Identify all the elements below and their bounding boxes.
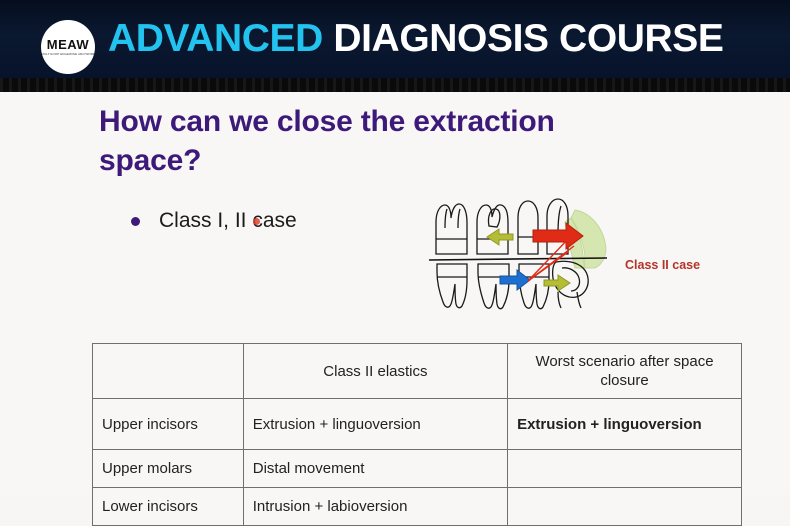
meaw-logo: MEAW MULTILOOP EDGEWISE ARCHWIRE xyxy=(41,20,95,74)
lower-left-blue-arrow xyxy=(500,270,530,290)
table-row: Lower incisors Intrusion + labioversion xyxy=(93,488,742,526)
row-elastics-lower-incisors: Intrusion + labioversion xyxy=(243,488,507,526)
header-cell-elastics: Class II elastics xyxy=(243,344,507,399)
bullet-item-label: Class I, II case xyxy=(159,209,297,233)
table-row: Upper molars Distal movement xyxy=(93,450,742,488)
logo-subtitle: MULTILOOP EDGEWISE ARCHWIRE xyxy=(41,52,95,56)
logo-word: MEAW xyxy=(47,39,89,51)
row-elastics-upper-incisors: Extrusion + linguoversion xyxy=(243,399,507,450)
row-elastics-upper-molars: Distal movement xyxy=(243,450,507,488)
dental-diagram-svg xyxy=(425,192,625,312)
course-title: ADVANCED DIAGNOSIS COURSE xyxy=(108,16,724,62)
upper-teeth-outlines xyxy=(436,199,568,254)
bullet-dot-icon xyxy=(131,217,140,226)
header-film-strip xyxy=(0,78,790,92)
row-worst-upper-incisors: Extrusion + linguoversion xyxy=(508,399,742,450)
table-header-row: Class II elastics Worst scenario after s… xyxy=(93,344,742,399)
cursor-marker-icon xyxy=(253,218,260,225)
course-title-rest: DIAGNOSIS COURSE xyxy=(333,17,723,60)
dental-diagram xyxy=(425,192,625,312)
comparison-table: Class II elastics Worst scenario after s… xyxy=(92,343,742,526)
slide-body: How can we close the extraction space? C… xyxy=(0,92,790,495)
header-cell-blank xyxy=(93,344,244,399)
bullet-list-item: Class I, II case xyxy=(131,209,297,233)
table-row: Upper incisors Extrusion + linguoversion… xyxy=(93,399,742,450)
row-label-upper-molars: Upper molars xyxy=(93,450,244,488)
upper-left-olive-arrow xyxy=(487,229,513,245)
row-worst-upper-molars xyxy=(508,450,742,488)
row-label-lower-incisors: Lower incisors xyxy=(93,488,244,526)
app-header: MEAW MULTILOOP EDGEWISE ARCHWIRE ADVANCE… xyxy=(0,0,790,78)
header-cell-worst-scenario: Worst scenario after space closure xyxy=(508,344,742,399)
row-label-upper-incisors: Upper incisors xyxy=(93,399,244,450)
course-title-accent: ADVANCED xyxy=(108,17,323,60)
row-worst-lower-incisors xyxy=(508,488,742,526)
slide-heading: How can we close the extraction space? xyxy=(99,102,619,180)
class-ii-case-label: Class II case xyxy=(625,258,700,272)
